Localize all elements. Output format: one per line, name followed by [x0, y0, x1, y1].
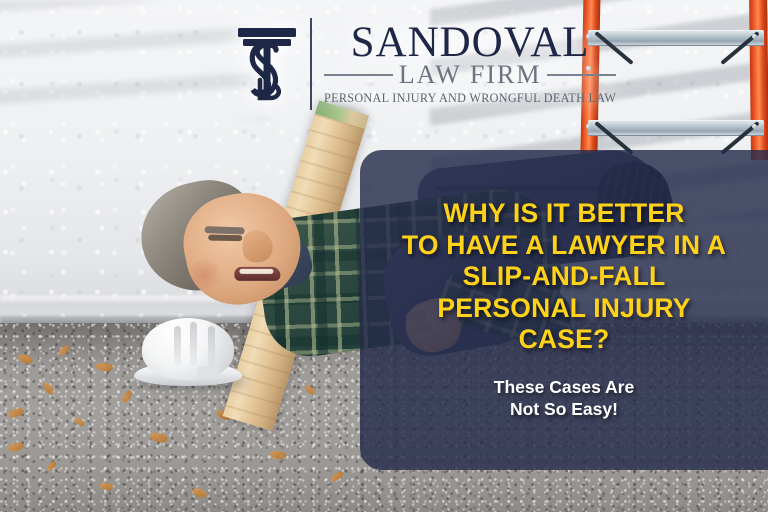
logo-tagline: PERSONAL INJURY AND WRONGFUL DEATH LAW	[324, 91, 616, 106]
hard-hat-ridge	[190, 322, 197, 366]
logo-subtitle: LAW FIRM	[399, 62, 542, 88]
subheadline: These Cases Are Not So Easy!	[494, 376, 634, 421]
logo-divider	[310, 18, 312, 110]
headline-overlay-panel: WHY IS IT BETTER TO HAVE A LAWYER IN A S…	[360, 150, 768, 470]
worker-teeth	[239, 269, 273, 274]
worker-nose	[243, 230, 273, 262]
logo-subtitle-row: LAW FIRM	[324, 62, 616, 88]
worker-eye	[208, 235, 242, 242]
ladder-rung	[588, 120, 764, 136]
logo-rule-left	[324, 74, 393, 76]
subheadline-line: Not So Easy!	[494, 398, 634, 420]
headline-line: TO HAVE A LAWYER IN A	[402, 230, 726, 262]
logo-rule-right	[547, 74, 616, 76]
headline-line: PERSONAL INJURY	[402, 293, 726, 325]
worker-brow	[205, 226, 245, 234]
ladder-rivet	[586, 124, 591, 129]
subheadline-line: These Cases Are	[494, 376, 634, 398]
ladder-rivet	[752, 124, 757, 129]
sandoval-law-firm-logo[interactable]: SANDOVAL LAW FIRM PERSONAL INJURY AND WR…	[236, 18, 616, 110]
logo-wordmark: SANDOVAL LAW FIRM PERSONAL INJURY AND WR…	[324, 22, 616, 106]
headline-line: SLIP-AND-FALL	[402, 261, 726, 293]
logo-firm-name: SANDOVAL	[351, 22, 590, 63]
ladder-rail-right	[749, 0, 768, 160]
pillar-monogram-st-icon	[236, 24, 298, 104]
hard-hat-dome	[142, 318, 234, 380]
wall-shadow-left	[0, 0, 270, 120]
worker-mouth	[234, 267, 280, 281]
hard-hat-clip	[198, 366, 220, 378]
law-firm-banner: SANDOVAL LAW FIRM PERSONAL INJURY AND WR…	[0, 0, 768, 512]
ladder-rivet	[752, 34, 757, 39]
headline: WHY IS IT BETTER TO HAVE A LAWYER IN A S…	[402, 198, 726, 356]
headline-line: CASE?	[402, 324, 726, 356]
headline-line: WHY IS IT BETTER	[402, 198, 726, 230]
hard-hat-ridge	[174, 326, 181, 366]
hard-hat	[134, 318, 242, 388]
hard-hat-ridge	[208, 326, 215, 366]
